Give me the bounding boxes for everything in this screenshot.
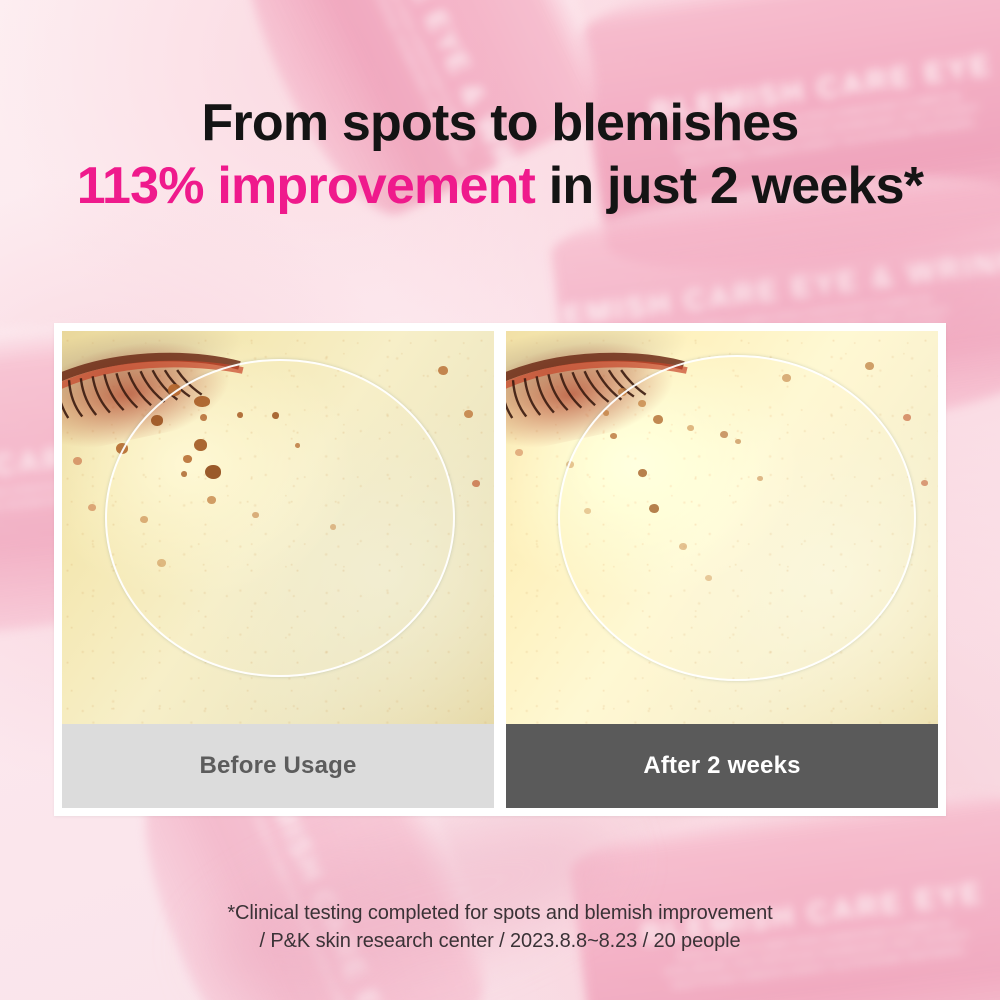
headline-line-1: From spots to blemishes (0, 96, 1000, 151)
measurement-circle-icon (558, 355, 916, 681)
pigment-spot (865, 362, 874, 370)
after-photo (506, 331, 938, 724)
after-panel: After 2 weeks (506, 331, 938, 808)
background-shadow-bottom (190, 785, 630, 1000)
pigment-spot (464, 410, 473, 418)
pigment-spot (903, 414, 911, 421)
pigment-spot (438, 366, 448, 375)
headline-rest-text: in just 2 weeks (535, 157, 904, 215)
after-label: After 2 weeks (506, 724, 938, 808)
headline-asterisk: * (904, 157, 923, 215)
headline-accent-text: 113% improvement (77, 157, 535, 215)
measurement-circle-icon (105, 359, 455, 677)
clinical-footnote: *Clinical testing completed for spots an… (0, 900, 1000, 955)
before-photo (62, 331, 494, 724)
pigment-spot (515, 449, 523, 456)
page-headline: From spots to blemishes 113% improvement… (0, 96, 1000, 214)
pigment-spot (88, 504, 96, 511)
headline-line-2: 113% improvement in just 2 weeks* (0, 159, 1000, 214)
footnote-line-2: / P&K skin research center / 2023.8.8~8.… (0, 928, 1000, 956)
footnote-line-1: *Clinical testing completed for spots an… (0, 900, 1000, 928)
promo-page: BLEMISH CARE EYE ROSA HYBRID FLOWER ROSA… (0, 0, 1000, 1000)
before-panel: Before Usage (62, 331, 494, 808)
pigment-spot (73, 457, 82, 465)
pigment-spot (921, 480, 928, 486)
before-label: Before Usage (62, 724, 494, 808)
before-after-comparison: Before Usage (54, 323, 946, 816)
